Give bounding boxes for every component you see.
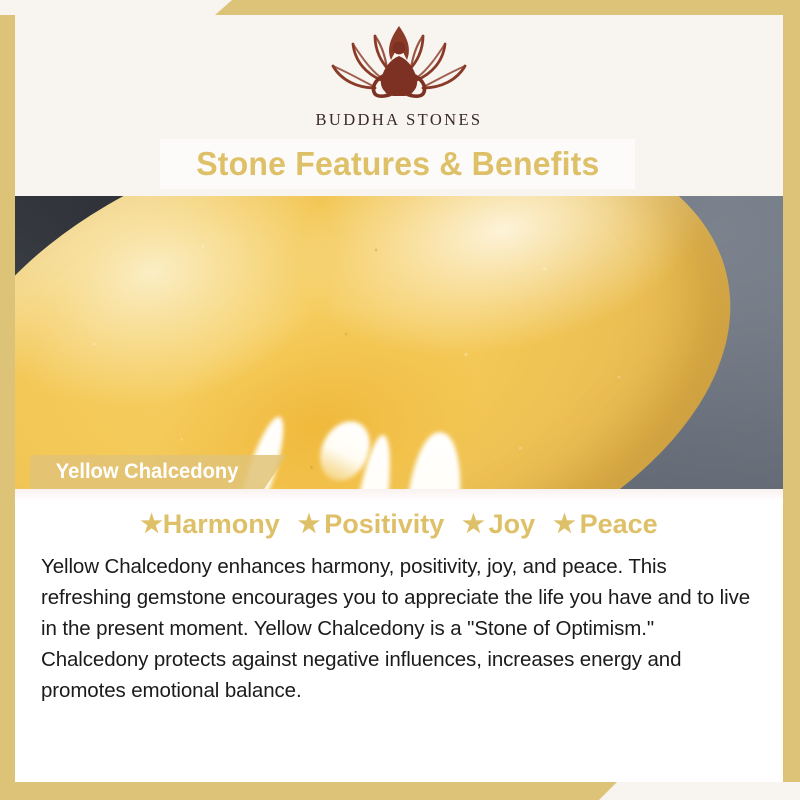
keyword-item: ★ Positivity (298, 509, 444, 540)
stone-name-label: Yellow Chalcedony (56, 460, 239, 484)
page-title: Stone Features & Benefits (196, 145, 599, 183)
description-card: ★ Harmony ★ Positivity ★ Joy ★ Peace Yel… (15, 489, 783, 782)
frame-bottom-band (0, 782, 617, 800)
keyword-item: ★ Harmony (140, 509, 279, 540)
infographic-page: BUDDHA STONES Stone Features & Benefits … (0, 0, 800, 800)
stone-name-tag: Yellow Chalcedony (30, 455, 286, 489)
description-paragraph: Yellow Chalcedony enhances harmony, posi… (41, 551, 753, 706)
keyword-label: Joy (489, 509, 536, 540)
title-banner: Stone Features & Benefits (160, 139, 635, 189)
brand-name: BUDDHA STONES (315, 110, 482, 130)
frame-right-band (783, 0, 800, 782)
card-top-gradient (15, 489, 783, 501)
frame-top-band (215, 0, 800, 15)
stone-texture (15, 196, 780, 489)
keyword-label: Harmony (163, 509, 280, 540)
star-icon: ★ (553, 512, 575, 537)
keyword-label: Positivity (324, 509, 444, 540)
star-icon: ★ (298, 512, 320, 537)
keyword-list: ★ Harmony ★ Positivity ★ Joy ★ Peace (15, 509, 783, 540)
brand-logo: BUDDHA STONES (15, 18, 783, 130)
star-icon: ★ (462, 512, 484, 537)
frame-left-band (0, 15, 15, 800)
stone-photo: Yellow Chalcedony (15, 196, 783, 489)
keyword-label: Peace (580, 509, 658, 540)
lotus-meditation-icon (323, 18, 475, 106)
star-icon: ★ (140, 512, 162, 537)
keyword-item: ★ Joy (462, 509, 535, 540)
stone-shape (15, 196, 780, 489)
keyword-item: ★ Peace (553, 509, 658, 540)
